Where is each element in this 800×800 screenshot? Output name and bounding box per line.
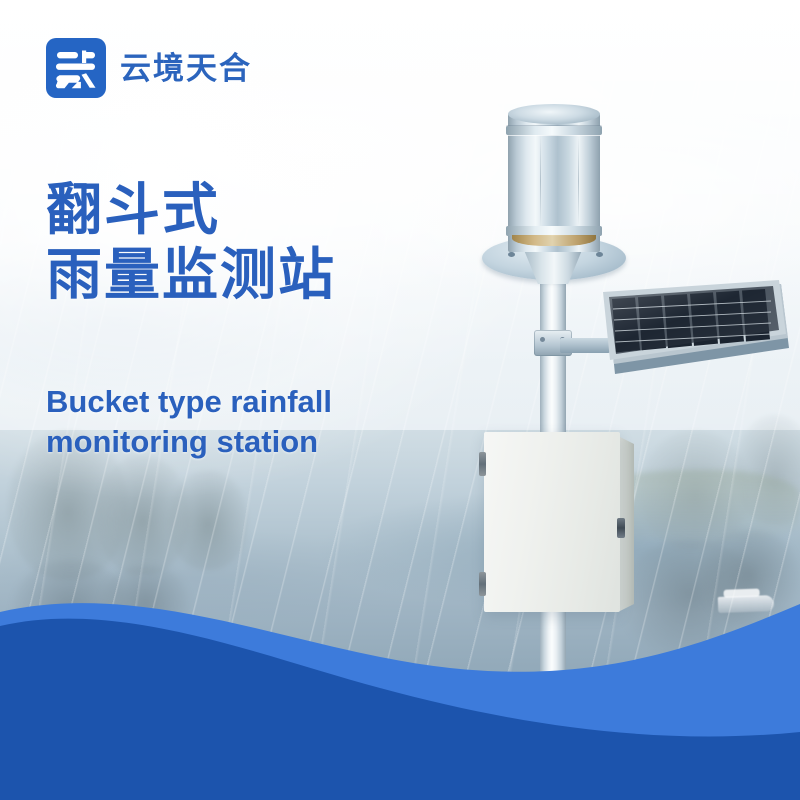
subtitle-line-2: monitoring station — [46, 422, 332, 462]
brand-name: 云境天合 — [120, 53, 252, 84]
page-title: 翻斗式 雨量监测站 — [46, 178, 336, 308]
title-line-2: 雨量监测站 — [46, 243, 336, 308]
subtitle-line-1: Bucket type rainfall — [46, 382, 332, 422]
cloud-logo-mark-icon — [46, 38, 106, 98]
cylinder-seam — [540, 135, 541, 227]
cabinet-hinge — [479, 452, 486, 476]
product-poster: 气象环境监测站 — [0, 0, 800, 800]
brand-logo[interactable]: 云境天合 — [46, 38, 252, 98]
rain-gauge-upper-band — [506, 126, 602, 135]
cabinet-lock — [617, 518, 625, 538]
plate-bolt — [596, 252, 603, 257]
cylinder-seam — [578, 135, 579, 227]
solar-panel — [585, 278, 795, 393]
bottom-wave-decoration — [0, 560, 800, 800]
title-line-1: 翻斗式 — [46, 178, 336, 243]
plate-bolt — [508, 252, 515, 257]
rain-gauge-funnel-top — [508, 104, 600, 124]
page-subtitle: Bucket type rainfall monitoring station — [46, 382, 332, 461]
